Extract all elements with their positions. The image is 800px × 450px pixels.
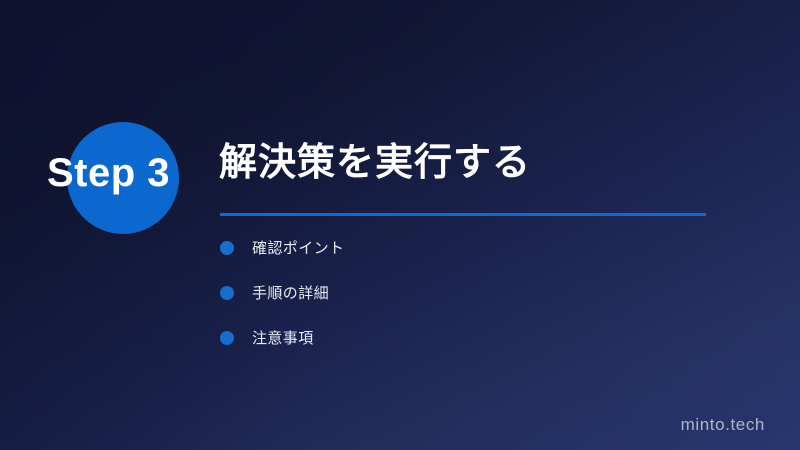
bullet-dot-icon (220, 331, 234, 345)
bullet-dot-icon (220, 286, 234, 300)
title-divider (220, 213, 706, 216)
list-item: 確認ポイント (220, 240, 344, 256)
step-badge-label: Step 3 (47, 153, 170, 193)
list-item: 注意事項 (220, 330, 344, 346)
watermark-brand: minto.tech (681, 416, 765, 433)
bullet-list: 確認ポイント 手順の詳細 注意事項 (220, 240, 344, 346)
bullet-dot-icon (220, 241, 234, 255)
slide-title: 解決策を実行する (219, 142, 531, 186)
list-item: 手順の詳細 (220, 285, 344, 301)
list-item-label: 注意事項 (252, 331, 314, 346)
presentation-slide: Step 3 解決策を実行する 確認ポイント 手順の詳細 注意事項 minto.… (0, 0, 800, 450)
list-item-label: 手順の詳細 (252, 286, 329, 301)
list-item-label: 確認ポイント (252, 241, 344, 256)
